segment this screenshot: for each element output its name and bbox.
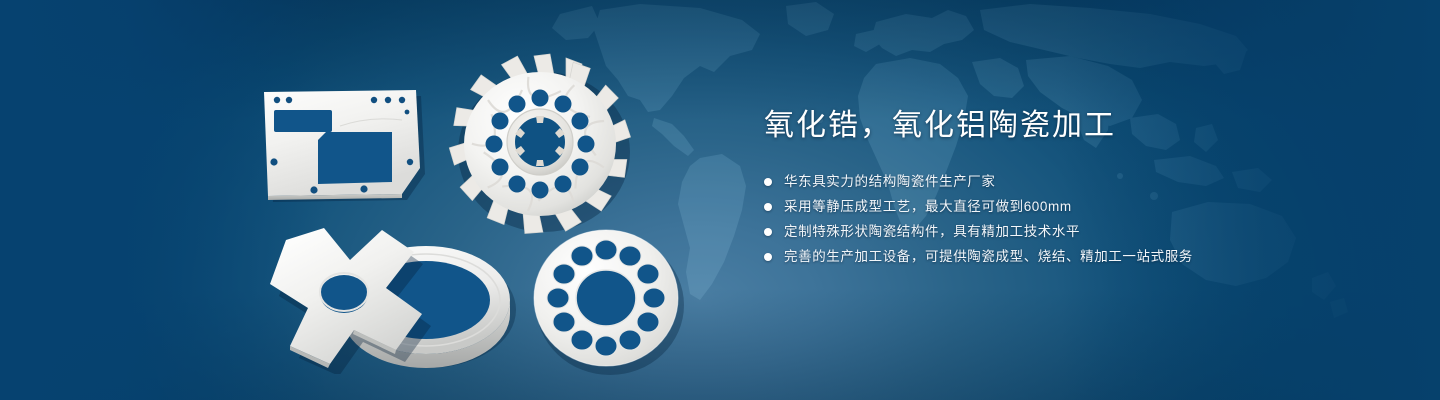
- product-image-ceramic-impeller: [440, 48, 640, 238]
- bullet-text: 定制特殊形状陶瓷结构件，具有精加工技术水平: [784, 220, 1080, 244]
- list-item: 完善的生产加工设备，可提供陶瓷成型、烧结、精加工一站式服务: [764, 245, 1404, 269]
- list-item: 采用等静压成型工艺，最大直径可做到600mm: [764, 195, 1404, 219]
- bullet-dot-icon: [764, 178, 772, 186]
- product-image-ceramic-cross-and-ring: [250, 222, 530, 374]
- bullet-text: 采用等静压成型工艺，最大直径可做到600mm: [784, 195, 1072, 219]
- hero-banner: 氧化锆，氧化铝陶瓷加工 华东具实力的结构陶瓷件生产厂家 采用等静压成型工艺，最大…: [0, 0, 1440, 400]
- product-image-ceramic-plate: [252, 78, 432, 206]
- bullet-text: 完善的生产加工设备，可提供陶瓷成型、烧结、精加工一站式服务: [784, 245, 1193, 269]
- product-image-ceramic-perforated-disc: [518, 222, 698, 378]
- bullet-text: 华东具实力的结构陶瓷件生产厂家: [784, 170, 996, 194]
- list-item: 定制特殊形状陶瓷结构件，具有精加工技术水平: [764, 220, 1404, 244]
- bullet-dot-icon: [764, 228, 772, 236]
- product-photo-group: [0, 0, 760, 400]
- bullet-dot-icon: [764, 253, 772, 261]
- bullet-dot-icon: [764, 203, 772, 211]
- banner-copy: 氧化锆，氧化铝陶瓷加工 华东具实力的结构陶瓷件生产厂家 采用等静压成型工艺，最大…: [764, 106, 1404, 270]
- list-item: 华东具实力的结构陶瓷件生产厂家: [764, 170, 1404, 194]
- banner-headline: 氧化锆，氧化铝陶瓷加工: [764, 106, 1404, 146]
- banner-feature-list: 华东具实力的结构陶瓷件生产厂家 采用等静压成型工艺，最大直径可做到600mm 定…: [764, 170, 1404, 269]
